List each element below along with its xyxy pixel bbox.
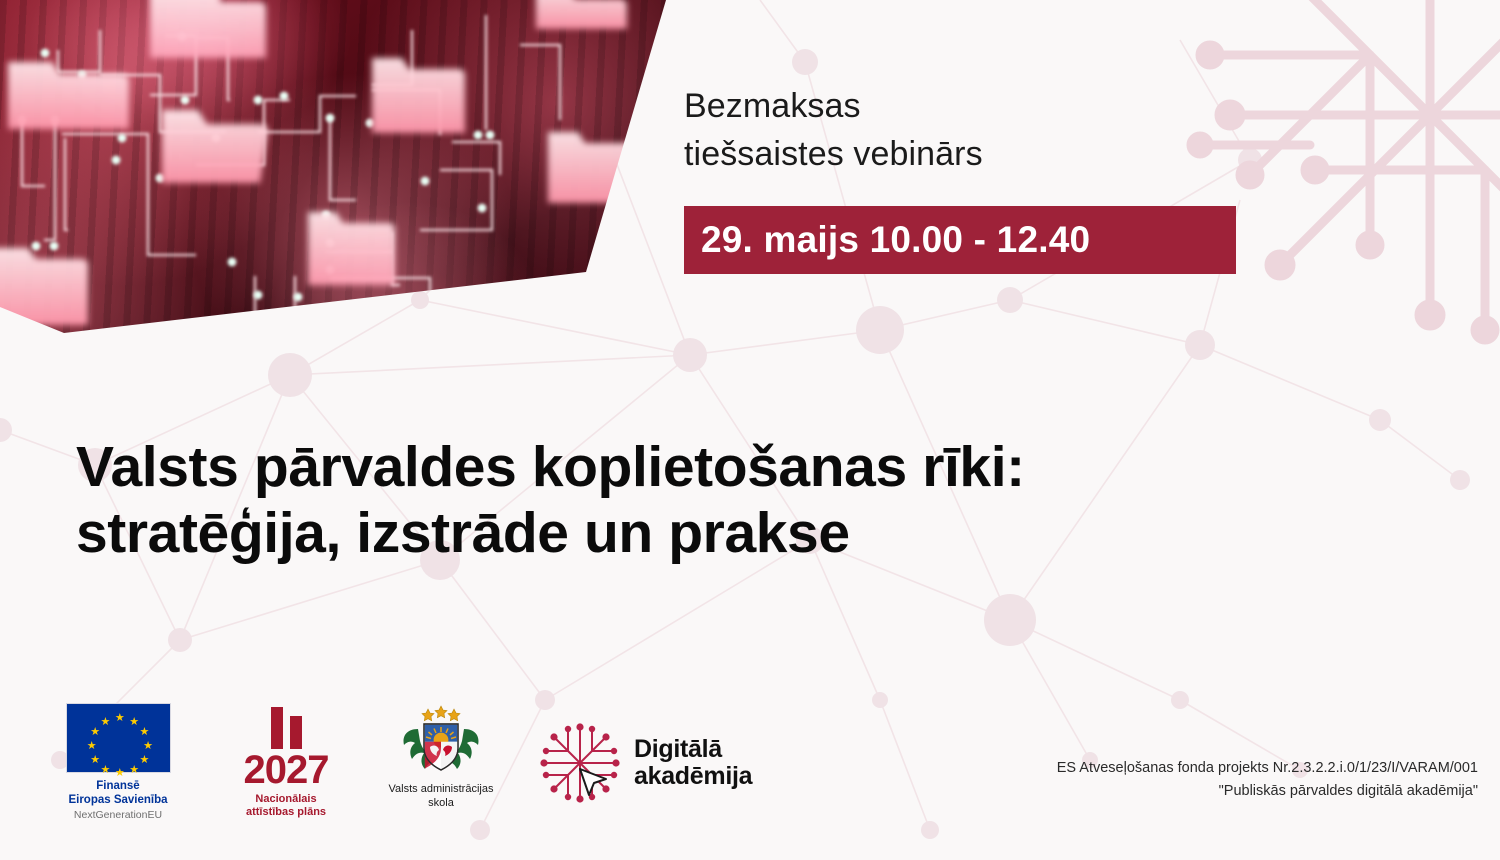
valsts-administracijas-skola-logo: Valsts administrācijas skola: [376, 703, 506, 811]
webinar-kicker-text: Bezmaksas tiešsaistes vebinārs: [684, 82, 983, 179]
project-funding-note: ES Atveseļošanas fonda projekts Nr.2.3.2…: [1057, 757, 1478, 803]
nap-2027-logo: 2027 Nacionālais attīstības plāns: [222, 703, 350, 819]
latvia-coat-of-arms-icon: [398, 703, 484, 779]
digital-academy-snowflake-icon: [536, 719, 624, 807]
nap-bars-icon: [271, 707, 302, 749]
hero-folder-network-image: [0, 0, 680, 345]
digitala-akademija-logo: Digitālā akadēmija: [536, 703, 752, 807]
poster-canvas: Bezmaksas tiešsaistes vebinārs 29. maijs…: [0, 0, 1500, 860]
date-time-label: 29. maijs 10.00 - 12.40: [684, 219, 1090, 261]
vas-subtitle-label: Valsts administrācijas skola: [389, 783, 494, 811]
eu-funding-label: Finansē Eiropas Savienība: [68, 779, 167, 807]
nap-year-label: 2027: [244, 751, 329, 789]
digital-academy-wordmark: Digitālā akadēmija: [634, 736, 752, 790]
sponsor-logo-row: ★ ★ ★ ★ ★ ★ ★ ★ ★ ★ ★ ★ Finansē Eiropas …: [44, 703, 752, 821]
hero-image-glow: [0, 0, 680, 345]
eu-flag-icon: ★ ★ ★ ★ ★ ★ ★ ★ ★ ★ ★ ★: [66, 703, 171, 773]
eu-nextgeneration-label: NextGenerationEU: [74, 809, 162, 821]
nap-subtitle-label: Nacionālais attīstības plāns: [246, 793, 326, 819]
date-time-badge: 29. maijs 10.00 - 12.40: [684, 206, 1236, 274]
eu-funding-logo: ★ ★ ★ ★ ★ ★ ★ ★ ★ ★ ★ ★ Finansē Eiropas …: [44, 703, 192, 821]
page-title: Valsts pārvaldes koplietošanas rīki: str…: [76, 434, 1136, 566]
